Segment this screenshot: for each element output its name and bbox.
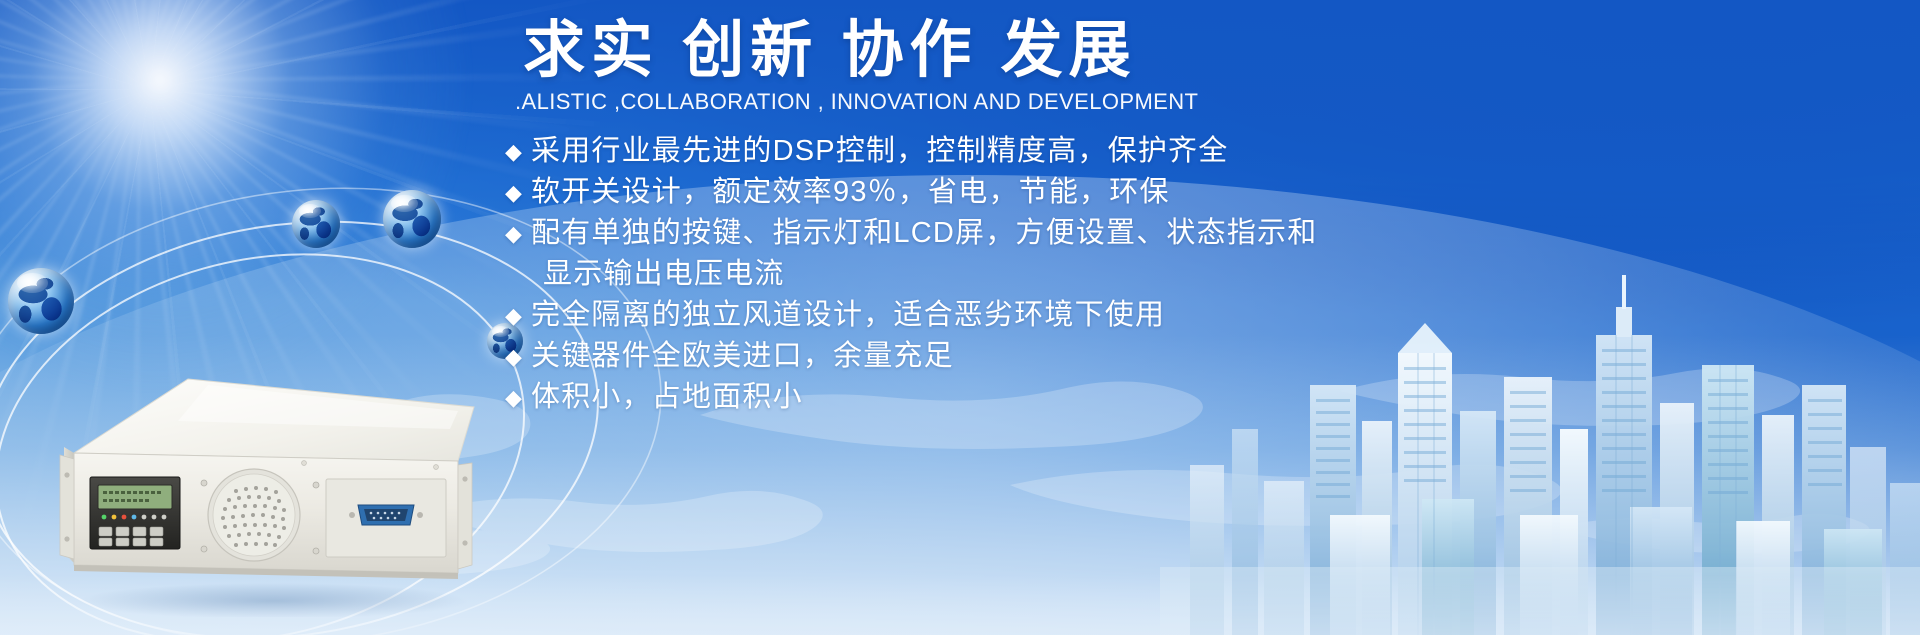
banner-text-block: 求实 创新 协作 发展 .ALISTIC ,COLLABORATION , IN… xyxy=(505,14,1465,418)
globe-landmass xyxy=(8,268,74,334)
feature-text: 关键器件全欧美进口，余量充足 xyxy=(531,336,954,377)
feature-text: 完全隔离的独立风道设计，适合恶劣环境下使用 xyxy=(531,295,1165,336)
diamond-bullet-icon: ◆ xyxy=(505,377,531,418)
globe-icon xyxy=(292,200,340,248)
list-item: ◆ 体积小，占地面积小 xyxy=(505,377,1465,418)
page-subtitle: .ALISTIC ,COLLABORATION , INNOVATION AND… xyxy=(515,89,1465,115)
list-item: ◆ 配有单独的按键、指示灯和LCD屏，方便设置、状态指示和 xyxy=(505,213,1465,254)
feature-text: 软开关设计，额定效率93％，省电，节能，环保 xyxy=(531,172,1170,213)
feature-list: ◆ 采用行业最先进的DSP控制，控制精度高，保护齐全 ◆ 软开关设计，额定效率9… xyxy=(505,131,1465,418)
list-item: ◆ 关键器件全欧美进口，余量充足 xyxy=(505,336,1465,377)
product-image-rack-power-supply xyxy=(58,367,488,617)
diamond-bullet-icon: ◆ xyxy=(505,295,531,336)
diamond-bullet-icon: ◆ xyxy=(505,213,531,254)
feature-text: 显示输出电压电流 xyxy=(543,254,785,295)
diamond-bullet-icon: ◆ xyxy=(505,131,531,172)
diamond-bullet-icon: ◆ xyxy=(505,172,531,213)
feature-text: 采用行业最先进的DSP控制，控制精度高，保护齐全 xyxy=(531,131,1228,172)
list-item-continuation: 显示输出电压电流 xyxy=(505,254,1465,295)
diamond-bullet-icon: ◆ xyxy=(505,336,531,377)
globe-icon xyxy=(8,268,74,334)
list-item: ◆ 软开关设计，额定效率93％，省电，节能，环保 xyxy=(505,172,1465,213)
promo-banner: 求实 创新 协作 发展 .ALISTIC ,COLLABORATION , IN… xyxy=(0,0,1920,635)
page-title: 求实 创新 协作 发展 xyxy=(523,14,1465,87)
list-item: ◆ 完全隔离的独立风道设计，适合恶劣环境下使用 xyxy=(505,295,1465,336)
globe-icon xyxy=(383,190,441,248)
feature-text: 配有单独的按键、指示灯和LCD屏，方便设置、状态指示和 xyxy=(531,213,1317,254)
globe-landmass xyxy=(383,190,441,248)
list-item: ◆ 采用行业最先进的DSP控制，控制精度高，保护齐全 xyxy=(505,131,1465,172)
globe-landmass xyxy=(292,200,340,248)
feature-text: 体积小，占地面积小 xyxy=(531,377,803,418)
